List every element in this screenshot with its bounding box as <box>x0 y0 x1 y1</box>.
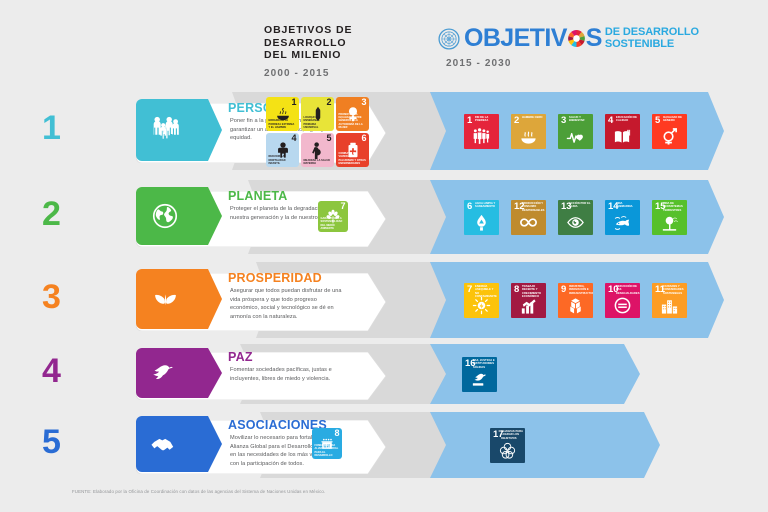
sdg-header-word-tail: S <box>586 26 602 51</box>
row-number: 5 <box>42 425 61 459</box>
row-asociaciones: 5 ASOCIACIONES Movilizar lo necesario pa… <box>0 412 768 478</box>
mdg-goal-caption: COMBATIR EL VIH/SIDA, EL PALUDISMO Y OTR… <box>339 152 367 165</box>
infographic-canvas: OBJETIVOS DE DESARROLLO DEL MILENIO 2000… <box>0 0 768 512</box>
pillar-tag[interactable] <box>136 348 222 398</box>
sdg-goal-caption: CIUDADES Y COMUNIDADES SOSTENIBLES <box>663 285 685 295</box>
sdg-goal-caption: ALIANZAS PARA LOGRAR LOS OBJETIVOS <box>501 430 523 440</box>
sdg-goal-caption: SALUD Y BIENESTAR <box>569 116 591 123</box>
mdg-goal-tile[interactable]: 4 REDUCIR LA MORTALIDAD INFANTIL <box>266 133 299 167</box>
city-buildings-icon <box>652 296 687 316</box>
sdg-goal-caption: PAZ, JUSTICIA E INSTITUCIONES SÓLIDAS <box>473 359 495 369</box>
sdg-header-word: OBJETIV <box>464 26 567 51</box>
row-planeta: 2 PLANETA Proteger el planeta de la degr… <box>0 180 768 254</box>
infinity-icon <box>511 213 546 233</box>
un-emblem-icon <box>438 28 460 50</box>
mdg-goal-tile[interactable]: 6 COMBATIR EL VIH/SIDA, EL PALUDISMO Y O… <box>336 133 369 167</box>
sdg-goal-tile[interactable]: 14 VIDA SUBMARINA <box>605 200 640 235</box>
sun-power-icon <box>464 296 499 316</box>
sdg-goal-tile[interactable]: 9 INDUSTRIA, INNOVACIÓN E INFRAESTRUCTUR… <box>558 283 593 318</box>
water-drop-icon <box>464 213 499 233</box>
interlocking-rings-icon <box>490 441 525 461</box>
pillar-tag[interactable] <box>136 416 222 472</box>
sdg-goal-tile[interactable]: 11 CIUDADES Y COMUNIDADES SOSTENIBLES <box>652 283 687 318</box>
people-group-icon <box>464 127 499 147</box>
pillar-tag[interactable] <box>136 269 222 329</box>
sdg-goal-tile[interactable]: 7 ENERGÍA ASEQUIBLE Y NO CONTAMINANTE <box>464 283 499 318</box>
pillar-description: Fomentar sociedades pacíficas, justas e … <box>230 366 342 383</box>
sdg-goal-tile[interactable]: 10 REDUCCIÓN DE LAS DESIGUALDADES <box>605 283 640 318</box>
mdg-goal-caption: LOGRAR LA ENSEÑANZA PRIMARIA UNIVERSAL <box>304 116 332 129</box>
sdg-goal-tile[interactable]: 15 VIDA DE ECOSISTEMAS TERRESTRES <box>652 200 687 235</box>
pillar-tag[interactable] <box>136 99 222 161</box>
family-people-icon <box>150 114 182 146</box>
pillar-title: PLANETA <box>228 189 288 203</box>
steaming-bowl-icon <box>511 127 546 147</box>
mdg-goal-caption: FOMENTAR UNA ALIANZA MUNDIAL PARA EL DES… <box>315 444 340 457</box>
sdg-goal-tile[interactable]: 13 ACCIÓN POR EL CLIMA <box>558 200 593 235</box>
mdg-header: OBJETIVOS DE DESARROLLO DEL MILENIO 2000… <box>264 24 424 79</box>
cubes-icon <box>558 296 593 316</box>
open-book-icon <box>605 127 640 147</box>
sdg-goal-caption: VIDA DE ECOSISTEMAS TERRESTRES <box>663 202 685 212</box>
handshake-icon <box>150 430 179 459</box>
row-number: 2 <box>42 197 61 231</box>
sdg-header-years: 2015 - 2030 <box>446 58 738 69</box>
growth-chart-icon <box>511 296 546 316</box>
sdg-goal-number: 6 <box>467 202 472 212</box>
sdg-goal-tile[interactable]: 16 PAZ, JUSTICIA E INSTITUCIONES SÓLIDAS <box>462 357 497 392</box>
row-number: 1 <box>42 111 61 145</box>
sdg-band <box>430 412 660 478</box>
equals-icon <box>605 296 640 316</box>
sdg-goal-number: 9 <box>561 285 566 295</box>
mdg-goal-caption: PROMOVER LA IGUALDAD ENTRE GÉNEROS Y LA … <box>339 113 367 129</box>
sdg-goal-number: 1 <box>467 116 472 126</box>
mdg-goal-tile[interactable]: 3 PROMOVER LA IGUALDAD ENTRE GÉNEROS Y L… <box>336 97 369 131</box>
pillar-title: PAZ <box>228 350 253 364</box>
sdg-goal-tile[interactable]: 1 FIN DE LA POBREZA <box>464 114 499 149</box>
sdg-goal-caption: IGUALDAD DE GÉNERO <box>663 116 685 123</box>
mdg-goal-tile[interactable]: 7 GARANTIZAR LA SOSTENIBILIDAD DEL MEDIO… <box>318 201 348 232</box>
sdg-goal-tile[interactable]: 2 HAMBRE CERO <box>511 114 546 149</box>
heartbeat-icon <box>558 127 593 147</box>
mdg-header-years: 2000 - 2015 <box>264 68 424 79</box>
sdg-goal-number: 3 <box>561 116 566 126</box>
row-number: 4 <box>42 354 61 388</box>
mdg-goal-tile[interactable]: 2 LOGRAR LA ENSEÑANZA PRIMARIA UNIVERSAL <box>301 97 334 131</box>
eye-earth-icon <box>558 213 593 233</box>
pillar-title: PROSPERIDAD <box>228 271 322 285</box>
sdg-goal-caption: REDUCCIÓN DE LAS DESIGUALDADES <box>616 285 638 295</box>
dove-gavel-icon <box>462 370 497 390</box>
dove-icon <box>150 360 176 386</box>
sdg-goal-tile[interactable]: 12 PRODUCCIÓN Y CONSUMO RESPONSABLES <box>511 200 546 235</box>
fish-icon <box>605 213 640 233</box>
sdg-goal-tile[interactable]: 4 EDUCACIÓN DE CALIDAD <box>605 114 640 149</box>
sdg-goal-caption: PRODUCCIÓN Y CONSUMO RESPONSABLES <box>522 202 544 212</box>
sdg-goal-caption: INDUSTRIA, INNOVACIÓN E INFRAESTRUCTURA <box>569 285 591 295</box>
globe-icon <box>150 201 180 231</box>
sdg-goal-number: 4 <box>608 116 613 126</box>
sdg-goal-number: 5 <box>655 116 660 126</box>
sdg-goal-tile[interactable]: 17 ALIANZAS PARA LOGRAR LOS OBJETIVOS <box>490 428 525 463</box>
sdg-goal-tile[interactable]: 8 TRABAJO DECENTE Y CRECIMIENTO ECONÓMIC… <box>511 283 546 318</box>
mdg-goal-tile[interactable]: 8 FOMENTAR UNA ALIANZA MUNDIAL PARA EL D… <box>312 428 342 459</box>
mdg-goal-tile[interactable]: 1 ERRADICAR LA POBREZA EXTREMA Y EL HAMB… <box>266 97 299 131</box>
hands-sprout-icon <box>150 284 181 315</box>
mdg-goal-tile[interactable]: 5 MEJORAR LA SALUD MATERNA <box>301 133 334 167</box>
gender-equal-icon <box>652 127 687 147</box>
tree-birds-icon <box>652 213 687 233</box>
mdg-goal-caption: MEJORAR LA SALUD MATERNA <box>304 159 332 165</box>
sdg-header: OBJETIV <box>438 26 738 69</box>
sdg-goal-caption: ACCIÓN POR EL CLIMA <box>569 202 591 209</box>
sdg-goal-number: 2 <box>514 116 519 126</box>
pregnant-woman-icon <box>301 142 334 158</box>
pillar-tag[interactable] <box>136 187 222 245</box>
mdg-goal-caption: ERRADICAR LA POBREZA EXTREMA Y EL HAMBRE <box>269 119 297 129</box>
sdg-colour-wheel-icon <box>567 29 586 48</box>
sdg-goal-number: 7 <box>467 285 472 295</box>
sdg-goal-tile[interactable]: 3 SALUD Y BIENESTAR <box>558 114 593 149</box>
pillar-description: Asegurar que todos puedan disfrutar de u… <box>230 287 342 321</box>
sdg-goal-caption: FIN DE LA POBREZA <box>475 116 497 123</box>
mdg-goal-caption: REDUCIR LA MORTALIDAD INFANTIL <box>269 155 297 165</box>
sdg-goal-caption: EDUCACIÓN DE CALIDAD <box>616 116 638 123</box>
mdg-goal-caption: GARANTIZAR LA SOSTENIBILIDAD DEL MEDIO A… <box>321 217 346 230</box>
sdg-goal-caption: VIDA SUBMARINA <box>616 202 638 209</box>
source-footer: FUENTE: Elaborado por la Oficina de Coor… <box>72 489 325 494</box>
sdg-goal-number: 8 <box>514 285 519 295</box>
sdg-header-subtitle: DE DESARROLLO SOSTENIBLE <box>605 27 699 50</box>
row-personas: 1 PERSONAS Poner fin a la pobreza y el h… <box>0 92 768 170</box>
mdg-header-title: OBJETIVOS DE DESARROLLO DEL MILENIO <box>264 24 424 62</box>
sdg-goal-tile[interactable]: 6 AGUA LIMPIA Y SANEAMIENTO <box>464 200 499 235</box>
row-paz: 4 PAZ Fomentar sociedades pacíficas, jus… <box>0 344 768 404</box>
row-prosperidad: 3 PROSPERIDAD Asegurar que todos puedan … <box>0 262 768 338</box>
sdg-goal-tile[interactable]: 5 IGUALDAD DE GÉNERO <box>652 114 687 149</box>
sdg-goal-caption: AGUA LIMPIA Y SANEAMIENTO <box>475 202 497 209</box>
row-number: 3 <box>42 280 61 314</box>
sdg-goal-caption: HAMBRE CERO <box>522 116 544 119</box>
